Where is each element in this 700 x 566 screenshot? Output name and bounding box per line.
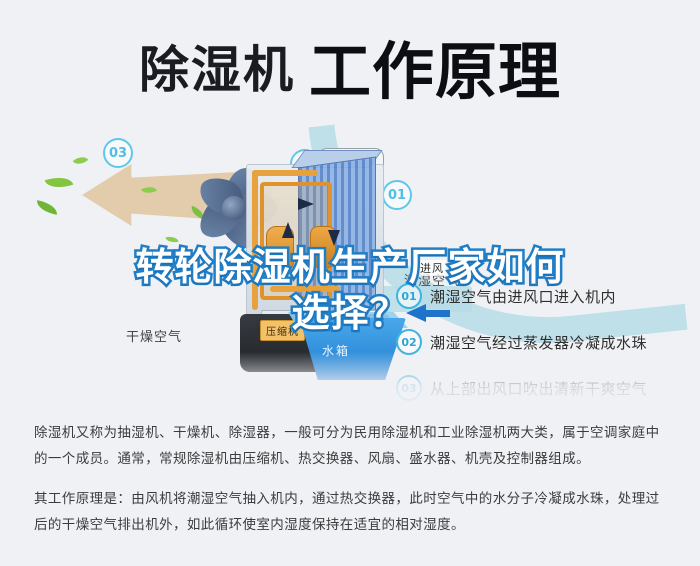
leaf-icon: [165, 235, 178, 244]
page-title: 除湿机 工作原理: [0, 30, 700, 102]
paragraph-1: 除湿机又称为抽湿机、干燥机、除湿器，一般可分为民用除湿机和工业除湿机两大类，属于…: [34, 420, 670, 472]
dry-air-label: 干燥空气: [126, 326, 182, 345]
title-part-1: 除湿机: [139, 30, 295, 102]
title-part-2: 工作原理: [309, 21, 561, 111]
flow-arrow-right-icon: [298, 198, 314, 210]
air-inlet-label: 进风: [418, 260, 446, 276]
caption-item: 01 潮湿空气由进风口进入机内: [396, 283, 696, 309]
refrigerant-pipe: [252, 170, 258, 310]
infographic-page: 除湿机 工作原理 干燥空气 03 02 01 热交换器: [0, 0, 700, 566]
caption-text: 潮湿空气由进风口进入机内: [430, 286, 616, 307]
refrigerant-pipe: [252, 170, 318, 176]
image-fade-mask: [0, 352, 700, 414]
badge-03: 03: [103, 138, 133, 168]
paragraph-2: 其工作原理是：由风机将潮湿空气抽入机内，通过热交换器，此时空气中的水分子冷凝成水…: [34, 486, 670, 538]
flow-arrow-down-icon: [328, 230, 340, 246]
caption-badge: 01: [396, 283, 422, 309]
flow-arrow-up-icon: [282, 222, 294, 238]
caption-text: 潮湿空气经过蒸发器冷凝成水珠: [430, 332, 647, 353]
leaf-icon: [45, 172, 74, 192]
leaf-icon: [73, 153, 89, 168]
leaf-icon: [35, 200, 59, 215]
body-copy: 除湿机又称为抽湿机、干燥机、除湿器，一般可分为民用除湿机和工业除湿机两大类，属于…: [34, 420, 670, 538]
refrigerant-pipe: [270, 286, 340, 292]
